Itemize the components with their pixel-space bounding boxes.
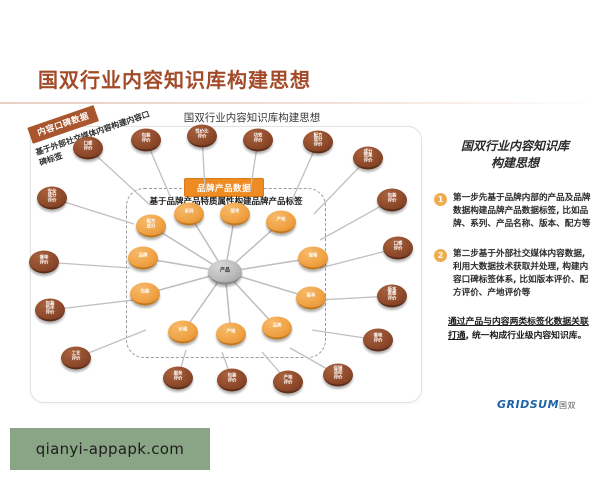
inner-node-2: 系列	[174, 203, 204, 226]
slide-title-bar: 国双行业内容知识库构建思想	[0, 58, 600, 102]
diagram-caption: 国双行业内容知识库构建思想	[152, 110, 352, 125]
outer-node-11-label: 促销活动评价	[334, 367, 343, 381]
slide-canvas: 国双行业内容知识库构建思想 国双行业内容知识库构建思想 内容口碑数据 基于外部社…	[0, 0, 600, 480]
outer-node-15-label: 工艺评价	[72, 352, 81, 361]
outer-node-17: 香味评价	[29, 251, 59, 274]
gridsum-logo: GRIDSUM国双	[497, 398, 576, 411]
outer-node-14: 服务评价	[163, 367, 193, 390]
inner-node-3-label: 型号	[231, 211, 240, 216]
outer-node-8: 口感评价	[383, 237, 413, 260]
outer-node-1-label: 口感评价	[84, 142, 93, 151]
inner-node-9-label: 价格	[179, 329, 188, 334]
inner-node-8-label: 产地	[227, 331, 236, 336]
explanation-step-1: 1 第一步先基于品牌内部的产品及品牌数据构建品牌产品数据标签, 比如品牌、系列、…	[434, 192, 594, 231]
inner-node-1: 配方成分	[136, 215, 166, 238]
inner-node-4-label: 产地	[277, 219, 286, 224]
outer-node-11: 促销活动评价	[323, 364, 353, 387]
inner-node-7-label: 品类	[273, 325, 282, 330]
explanation-conclusion: 通过产品与内容两类标签化数据关联打通, 统一构成行业级内容知识库。	[448, 316, 594, 343]
explanation-heading: 国双行业内容知识库构建思想	[440, 138, 590, 173]
inner-node-11: 品牌	[128, 247, 158, 270]
outer-node-14-label: 服务评价	[174, 372, 183, 381]
outer-node-6: 成分效果评价	[353, 147, 383, 170]
inner-node-4: 产地	[266, 211, 296, 234]
watermark-band: qianyi-appapk.com	[10, 428, 210, 470]
inner-node-10: 包装	[130, 283, 160, 306]
outer-node-15: 工艺评价	[61, 347, 91, 370]
step-2-number: 2	[434, 249, 447, 262]
inner-node-2-label: 系列	[185, 211, 194, 216]
outer-node-16: 包装色泽评价	[35, 299, 65, 322]
explanation-step-2: 2 第二步基于外部社交媒体内容数据, 利用大数据技术获取并处理, 构建内容口碑标…	[434, 248, 594, 300]
inner-node-1-label: 配方成分	[147, 220, 156, 229]
page-title: 国双行业内容知识库构建思想	[38, 64, 311, 93]
outer-node-2: 包装评价	[131, 129, 161, 152]
outer-node-12-label: 产地评价	[284, 376, 293, 385]
inner-node-11-label: 品牌	[139, 255, 148, 260]
outer-node-3-label: 性价比评价	[195, 130, 208, 139]
outer-node-12: 产地评价	[273, 371, 303, 394]
inner-node-9: 价格	[168, 321, 198, 344]
outer-node-16-label: 包装色泽评价	[46, 302, 55, 316]
step-1-text: 第一步先基于品牌内部的产品及品牌数据构建品牌产品数据标签, 比如品牌、系列、产品…	[453, 192, 594, 231]
outer-node-5: 配方成分评价	[303, 131, 333, 154]
center-node: 产品	[208, 260, 242, 285]
logo-brand: GRIDSUM	[497, 398, 559, 411]
watermark-text: qianyi-appapk.com	[36, 440, 184, 458]
center-node-label: 产品	[220, 268, 230, 273]
inner-node-5-label: 规格	[309, 255, 318, 260]
outer-node-18: 安全成分评价	[37, 187, 67, 210]
outer-node-4-label: 功效评价	[254, 134, 263, 143]
step-2-text: 第二步基于外部社交媒体内容数据, 利用大数据技术获取并处理, 构建内容口碑标签体…	[453, 248, 594, 300]
inner-node-8: 产地	[216, 323, 246, 346]
inner-node-5: 规格	[298, 247, 328, 270]
outer-node-5-label: 配方成分评价	[314, 134, 323, 148]
outer-node-9-label: 版本肤感评价	[388, 288, 397, 302]
inner-node-10-label: 包装	[141, 291, 150, 296]
outer-node-17-label: 香味评价	[40, 256, 49, 265]
conclusion-rest: , 统一构成行业级内容知识库。	[466, 331, 587, 341]
outer-node-1: 口感评价	[73, 137, 103, 160]
outer-node-7: 包装评价	[377, 189, 407, 212]
outer-node-3: 性价比评价	[187, 125, 217, 148]
outer-node-18-label: 安全成分评价	[48, 190, 57, 204]
outer-node-10: 香味评价	[363, 329, 393, 352]
inner-node-7: 品类	[262, 317, 292, 340]
outer-node-6-label: 成分效果评价	[364, 150, 373, 164]
inner-node-6: 版本	[296, 287, 326, 310]
outer-node-13-label: 包装评价	[228, 374, 237, 383]
outer-node-7-label: 包装评价	[388, 194, 397, 203]
outer-node-2-label: 包装评价	[142, 134, 151, 143]
outer-node-8-label: 口感评价	[394, 242, 403, 251]
logo-cn: 国双	[559, 401, 576, 410]
inner-node-6-label: 版本	[307, 295, 316, 300]
outer-node-9: 版本肤感评价	[377, 285, 407, 308]
outer-node-10-label: 香味评价	[374, 334, 383, 343]
outer-node-4: 功效评价	[243, 129, 273, 152]
step-1-number: 1	[434, 193, 447, 206]
inner-node-3: 型号	[220, 203, 250, 226]
outer-node-13: 包装评价	[217, 369, 247, 392]
